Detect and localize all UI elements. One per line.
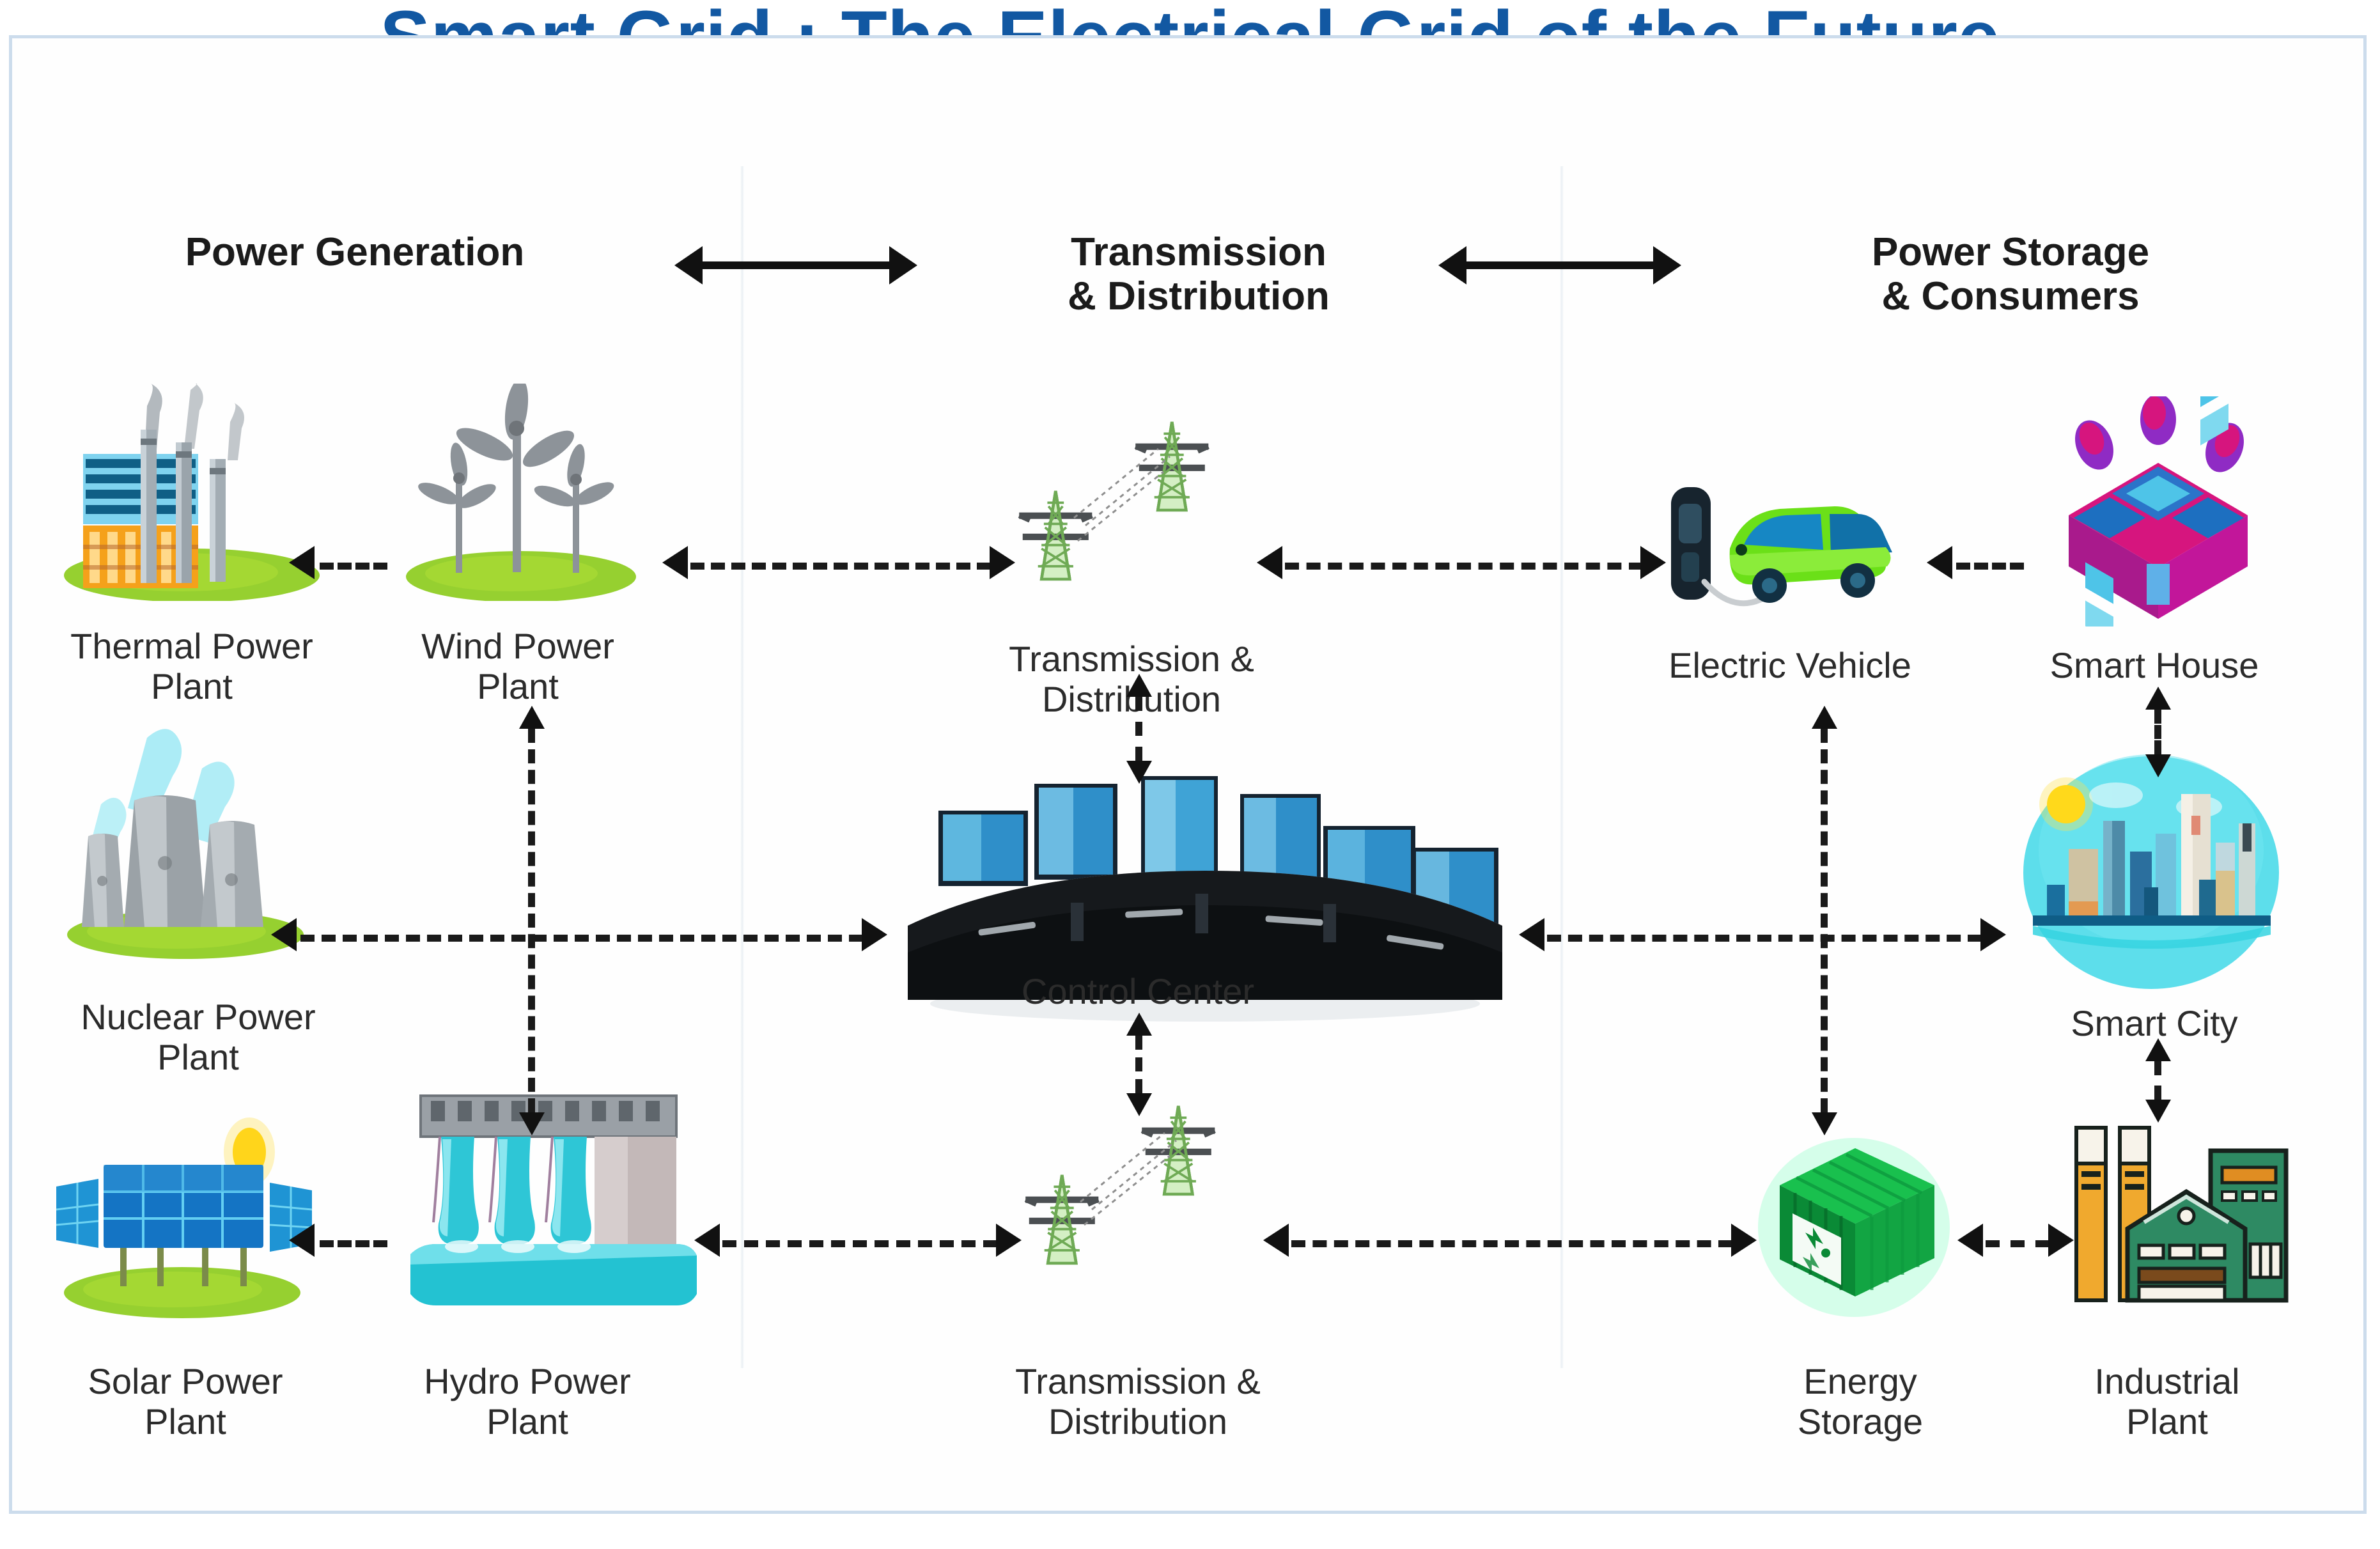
arrowhead-left <box>271 918 297 951</box>
arrowhead-down <box>1126 1093 1152 1116</box>
arrowhead-down <box>1812 1112 1837 1135</box>
connector-wind-to-thermal <box>320 563 387 570</box>
smart-house-label: Smart House <box>2001 646 2308 686</box>
arrowhead-left <box>289 546 315 579</box>
arrowhead-up <box>2145 1038 2171 1061</box>
smart-house[interactable] <box>2033 396 2282 627</box>
header-transmission-distribution: Transmission & Distribution <box>978 230 1419 319</box>
arrowhead-left <box>1263 1224 1289 1257</box>
arrowhead-up <box>1126 674 1152 697</box>
arrowhead-down <box>519 1112 545 1135</box>
connector-ev-storage <box>1821 729 1828 1112</box>
wind-turbine-icon <box>384 384 652 601</box>
arrowhead-up <box>2145 687 2171 710</box>
arrowhead-left <box>1519 918 1544 951</box>
energy-storage[interactable] <box>1752 1125 1963 1317</box>
hydro-dam-icon <box>403 1087 703 1323</box>
arrowhead-right <box>996 1224 1022 1257</box>
arrowhead-down <box>1126 761 1152 784</box>
energy-storage-icon <box>1752 1125 1963 1317</box>
connector-industrial-storage <box>1986 1240 2049 1247</box>
hydro-power-plant[interactable] <box>403 1087 703 1323</box>
transmission-tower-icon <box>1016 1100 1259 1291</box>
arrowhead-up <box>1126 1013 1152 1036</box>
arrowhead-right <box>1731 1224 1757 1257</box>
connector-city-control <box>1547 935 1982 942</box>
solar-power-plant[interactable] <box>45 1112 326 1323</box>
hydro-power-plant-label: Hydro Power Plant <box>377 1362 678 1442</box>
arrowhead-down <box>2145 1100 2171 1123</box>
connector-transmission-control <box>1135 697 1142 761</box>
arrowhead-up <box>1812 706 1837 729</box>
electric-vehicle-icon <box>1662 473 1931 627</box>
industrial-plant-icon <box>2058 1112 2301 1317</box>
control-center-label: Control Center <box>946 972 1330 1012</box>
column-separator-right <box>1560 166 1564 1368</box>
transmission-bottom[interactable] <box>1016 1100 1259 1291</box>
smart-city[interactable] <box>2007 754 2295 991</box>
arrowhead-left <box>694 1224 720 1257</box>
header-power-storage-consumers: Power Storage & Consumers <box>1764 230 2257 319</box>
arrowhead-left <box>1957 1224 1983 1257</box>
wind-power-plant[interactable] <box>384 384 652 601</box>
transmission-bottom-label: Transmission & Distribution <box>946 1362 1330 1442</box>
arrowhead-down <box>2145 754 2171 777</box>
arrowhead-left <box>1257 546 1282 579</box>
energy-storage-label: Energy Storage <box>1726 1362 1995 1442</box>
arrowhead-left <box>1927 546 1952 579</box>
arrowhead-left <box>662 546 688 579</box>
connector-transmission-hydro <box>722 1240 997 1247</box>
connector-house-to-ev <box>1956 563 2024 570</box>
nuclear-power-plant-label: Nuclear Power Plant <box>19 997 377 1077</box>
wind-power-plant-label: Wind Power Plant <box>377 627 658 706</box>
arrowhead-left <box>289 1224 315 1257</box>
connector-ev-transmission <box>1285 563 1643 570</box>
arrowhead-right <box>862 918 887 951</box>
connector-control-transmission-bottom <box>1135 1036 1142 1093</box>
industrial-plant[interactable] <box>2058 1112 2301 1317</box>
arrowhead-up <box>519 706 545 729</box>
arrowhead-right <box>1980 918 2006 951</box>
transmission-top[interactable] <box>1010 416 1253 607</box>
electric-vehicle[interactable] <box>1662 473 1931 627</box>
solar-power-plant-label: Solar Power Plant <box>13 1362 358 1442</box>
connector-storage-transmission <box>1291 1240 1732 1247</box>
solar-panel-icon <box>45 1112 326 1323</box>
industrial-plant-label: Industrial Plant <box>2033 1362 2301 1442</box>
electric-vehicle-label: Electric Vehicle <box>1611 646 1969 686</box>
thermal-power-plant-label: Thermal Power Plant <box>6 627 377 706</box>
arrowhead-right <box>1640 546 1666 579</box>
connector-city-industrial <box>2154 1061 2161 1100</box>
smart-grid-diagram: Smart Grid : The Electrical Grid of the … <box>0 0 2380 1549</box>
arrowhead-right <box>2048 1224 2074 1257</box>
column-separator-left <box>740 166 744 1368</box>
connector-wind-hydro <box>528 729 535 1112</box>
header-power-generation: Power Generation <box>96 230 614 274</box>
connector-transmission-wind <box>690 563 991 570</box>
smart-house-icon <box>2033 396 2282 627</box>
connector-house-city <box>2154 710 2161 754</box>
connector-control-nuclear <box>300 935 863 942</box>
smart-city-icon <box>2007 754 2295 991</box>
connector-hydro-to-solar <box>320 1240 387 1247</box>
arrowhead-right <box>990 546 1015 579</box>
transmission-tower-icon <box>1010 416 1253 607</box>
